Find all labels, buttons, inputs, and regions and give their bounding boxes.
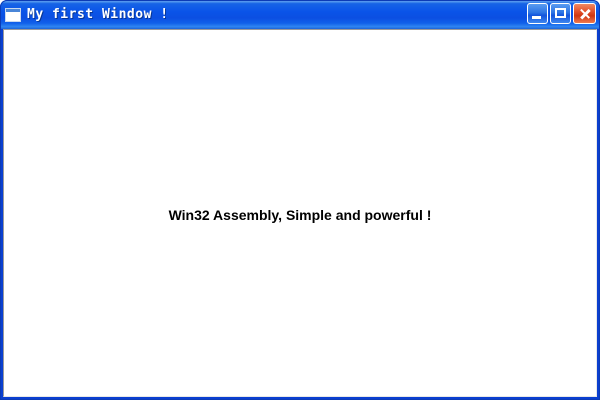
application-window: My first Window ! Win32 Assembly, Simple…: [0, 0, 600, 400]
client-area: Win32 Assembly, Simple and powerful !: [3, 29, 597, 397]
close-icon: [580, 9, 590, 19]
title-bar[interactable]: My first Window !: [0, 0, 600, 29]
client-message: Win32 Assembly, Simple and powerful !: [4, 207, 596, 223]
window-default-icon[interactable]: [5, 8, 21, 22]
caption-button-group: [527, 3, 596, 24]
window-title: My first Window !: [27, 0, 169, 29]
minimize-button[interactable]: [527, 3, 548, 24]
close-button[interactable]: [573, 3, 596, 24]
maximize-button[interactable]: [550, 3, 571, 24]
maximize-icon: [555, 8, 566, 18]
minimize-icon: [532, 16, 541, 19]
